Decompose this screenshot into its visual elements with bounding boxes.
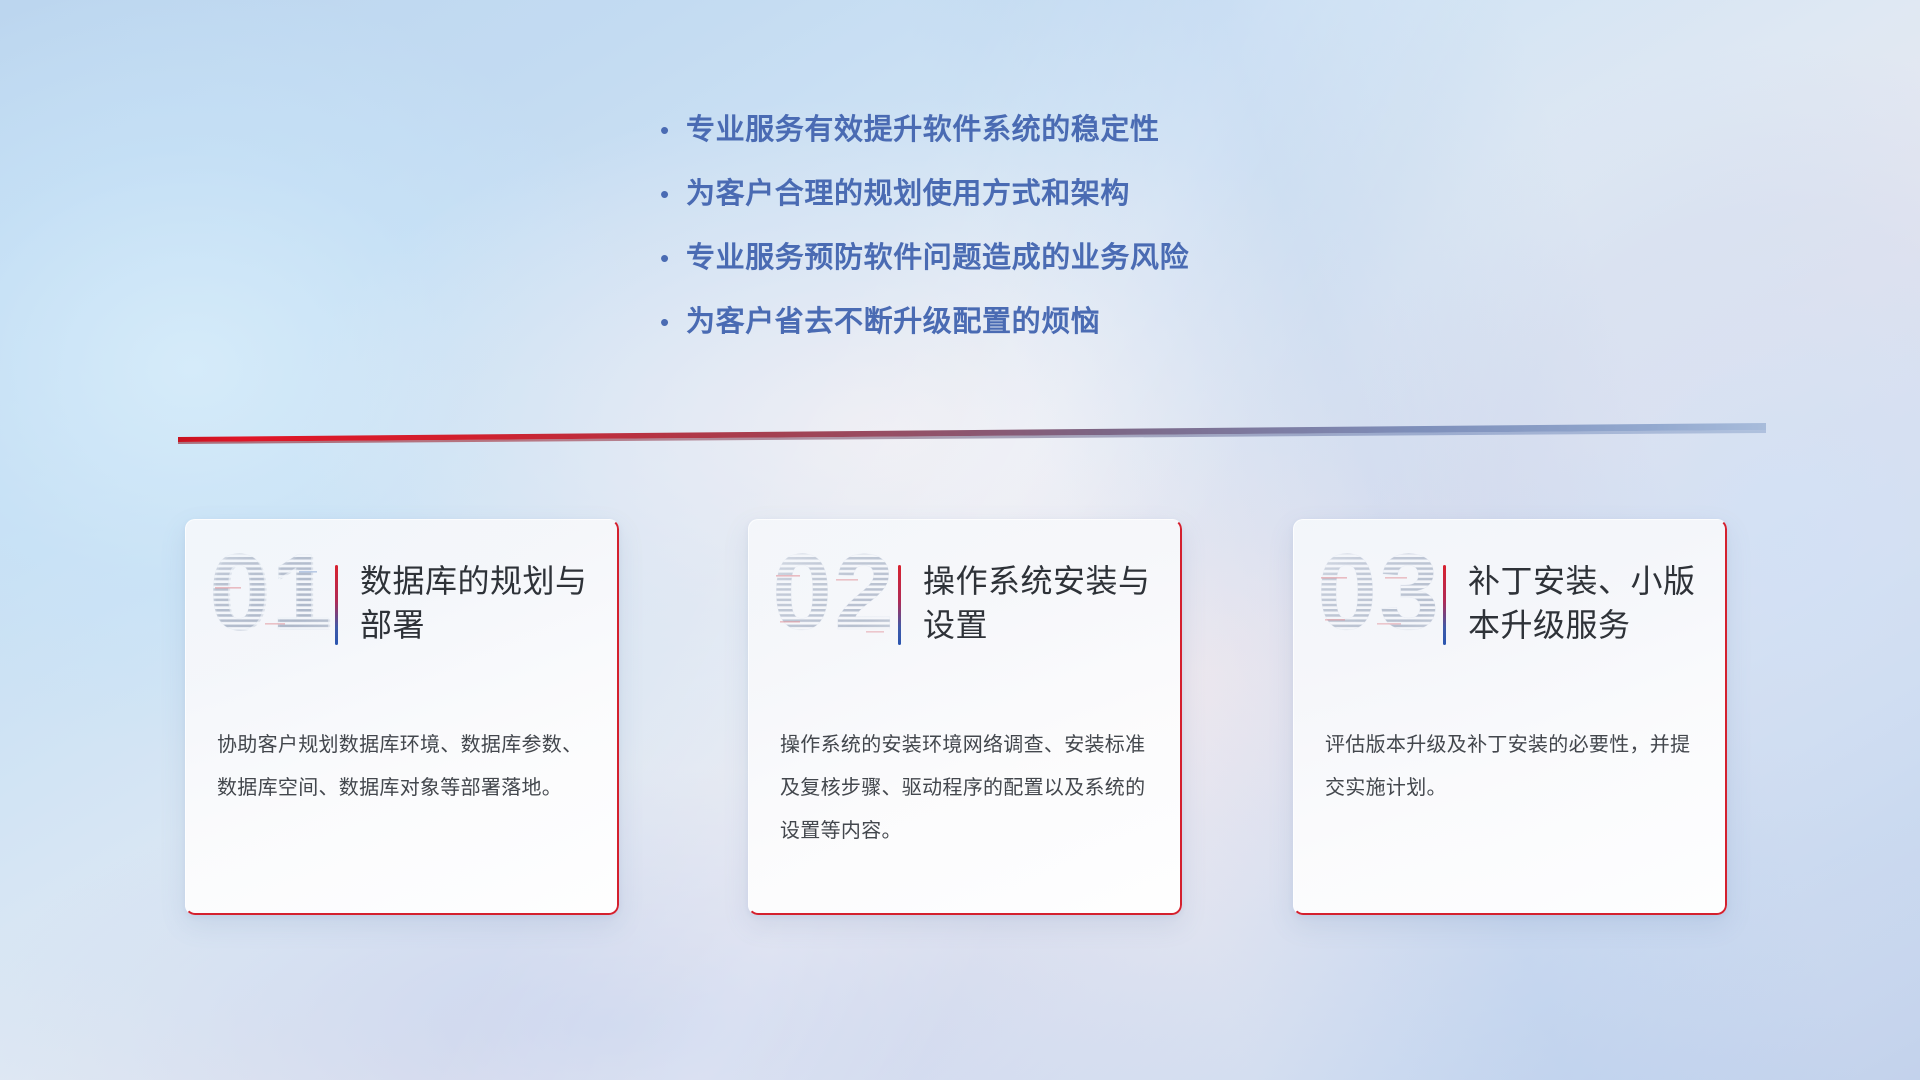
svg-text:01: 01	[209, 531, 333, 651]
card-description: 操作系统的安装环境网络调查、安装标准及复核步骤、驱动程序的配置以及系统的设置等内…	[780, 724, 1152, 853]
bullet-text: 专业服务预防软件问题造成的业务风险	[686, 241, 1189, 275]
card-title: 数据库的规划与部署	[360, 559, 607, 647]
svg-text:03: 03	[1317, 531, 1441, 651]
list-item: • 为客户合理的规划使用方式和架构	[660, 177, 1420, 241]
svg-text:02: 02	[772, 531, 896, 651]
service-card[interactable]: 01 01 01 数据库的规划与部署 协助客户规划数据库环境、数据库参数、数据库…	[185, 519, 619, 915]
list-item: • 专业服务预防软件问题造成的业务风险	[660, 241, 1420, 305]
card-accent-bar	[335, 565, 338, 645]
card-header: 数据库的规划与部署	[335, 559, 607, 647]
bullet-dot-icon: •	[660, 113, 686, 147]
list-item: • 为客户省去不断升级配置的烦恼	[660, 305, 1420, 369]
card-description: 协助客户规划数据库环境、数据库参数、数据库空间、数据库对象等部署落地。	[217, 724, 589, 810]
svg-text:01: 01	[209, 531, 333, 651]
card-header: 操作系统安装与设置	[898, 559, 1170, 647]
card-header: 补丁安装、小版本升级服务	[1443, 559, 1715, 647]
list-item: • 专业服务有效提升软件系统的稳定性	[660, 113, 1420, 177]
service-card[interactable]: 02 02 操作系统安装与设置 操作系统的安装环境网络调查、安装标准及复核步骤、…	[748, 519, 1182, 915]
benefits-bullet-list: • 专业服务有效提升软件系统的稳定性 • 为客户合理的规划使用方式和架构 • 专…	[660, 113, 1420, 369]
bullet-text: 专业服务有效提升软件系统的稳定性	[686, 113, 1160, 147]
card-accent-bar	[1443, 565, 1446, 645]
bullet-text: 为客户合理的规划使用方式和架构	[686, 177, 1130, 211]
bullet-text: 为客户省去不断升级配置的烦恼	[686, 305, 1100, 339]
svg-text:03: 03	[1317, 531, 1441, 651]
svg-text:01: 01	[211, 532, 335, 651]
card-title: 操作系统安装与设置	[923, 559, 1170, 647]
divider-shape-icon	[178, 418, 1766, 444]
section-divider	[178, 418, 1766, 444]
bullet-dot-icon: •	[660, 305, 686, 339]
svg-text:02: 02	[772, 531, 896, 651]
service-card[interactable]: 03 03 补丁安装、小版本升级服务 评估版本升级及补丁安装的必要性，并提交实施…	[1293, 519, 1727, 915]
card-description: 评估版本升级及补丁安装的必要性，并提交实施计划。	[1325, 724, 1697, 810]
service-card-grid: 01 01 01 数据库的规划与部署 协助客户规划数据库环境、数据库参数、数据库…	[185, 519, 1745, 919]
bullet-dot-icon: •	[660, 241, 686, 275]
bullet-dot-icon: •	[660, 177, 686, 211]
card-accent-bar	[898, 565, 901, 645]
card-title: 补丁安装、小版本升级服务	[1468, 559, 1715, 647]
